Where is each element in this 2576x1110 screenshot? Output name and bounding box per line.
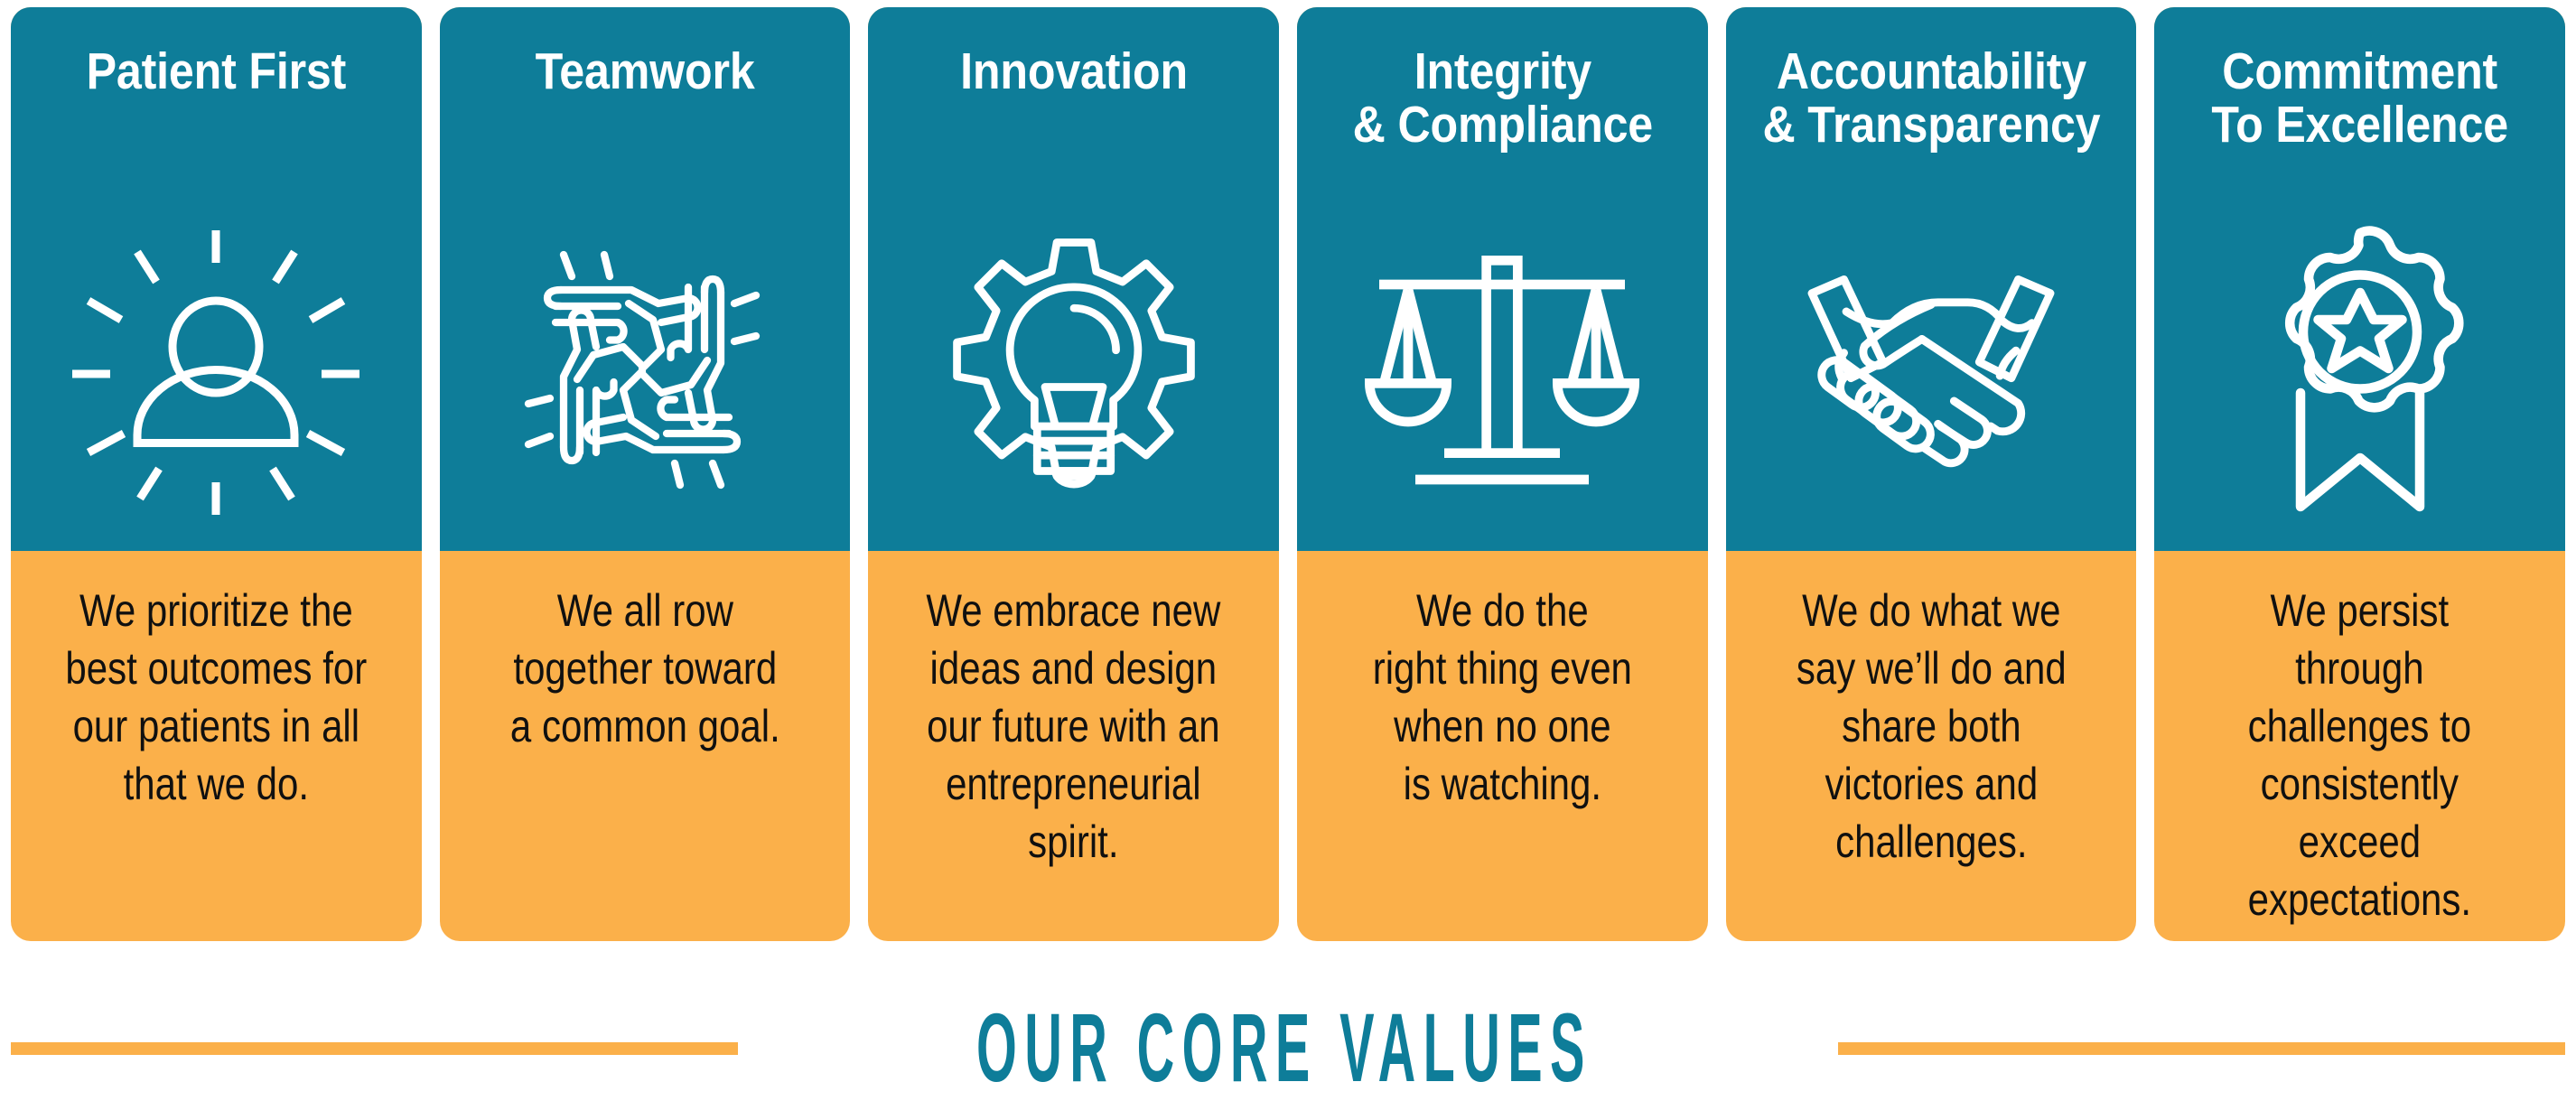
card-title: Patient First xyxy=(79,45,354,98)
card-header-innovation: Innovation xyxy=(868,7,1279,551)
card-body-accountability-transparency: We do what we say we’ll do and share bot… xyxy=(1726,551,2137,941)
card-body-commitment-excellence: We persist through challenges to consist… xyxy=(2154,551,2565,941)
card-description: We do the right thing even when no one i… xyxy=(1347,582,1658,813)
footer-title: Our Core Values xyxy=(976,1000,1600,1097)
patient-shine-icon xyxy=(11,222,422,520)
card-title: Teamwork xyxy=(527,45,763,98)
card-title: Commitment To Excellence xyxy=(2204,45,2516,151)
card-body-innovation: We embrace new ideas and design our futu… xyxy=(868,551,1279,941)
card-body-patient-first: We prioritize the best outcomes for our … xyxy=(11,551,422,941)
card-description: We embrace new ideas and design our futu… xyxy=(918,582,1229,871)
core-values-infographic: Patient First xyxy=(0,0,2576,1110)
lightbulb-gear-icon xyxy=(868,222,1279,520)
value-card-integrity-compliance: Integrity & Compliance xyxy=(1297,7,1708,941)
card-header-accountability-transparency: Accountability & Transparency xyxy=(1726,7,2137,551)
value-card-teamwork: Teamwork xyxy=(440,7,851,941)
card-header-teamwork: Teamwork xyxy=(440,7,851,551)
card-header-patient-first: Patient First xyxy=(11,7,422,551)
value-card-accountability-transparency: Accountability & Transparency xyxy=(1726,7,2137,941)
card-title: Integrity & Compliance xyxy=(1344,45,1660,151)
balance-scales-icon xyxy=(1297,222,1708,520)
card-header-integrity-compliance: Integrity & Compliance xyxy=(1297,7,1708,551)
card-description: We persist through challenges to consist… xyxy=(2204,582,2515,928)
footer-banner: Our Core Values xyxy=(11,999,2565,1098)
card-description: We do what we say we’ll do and share bot… xyxy=(1776,582,2087,871)
card-description: We prioritize the best outcomes for our … xyxy=(61,582,372,813)
card-title: Innovation xyxy=(952,45,1195,98)
handshake-icon xyxy=(1726,222,2137,520)
value-card-innovation: Innovation xyxy=(868,7,1279,941)
right-orange-rule xyxy=(1838,1042,2565,1055)
card-header-commitment-excellence: Commitment To Excellence xyxy=(2154,7,2565,551)
value-card-commitment-excellence: Commitment To Excellence We persis xyxy=(2154,7,2565,941)
left-orange-rule xyxy=(11,1042,738,1055)
card-body-teamwork: We all row together toward a common goal… xyxy=(440,551,851,941)
award-badge-icon xyxy=(2154,222,2565,520)
interlocking-hands-icon xyxy=(440,222,851,520)
card-title: Accountability & Transparency xyxy=(1754,45,2108,151)
values-card-grid: Patient First xyxy=(11,7,2565,941)
value-card-patient-first: Patient First xyxy=(11,7,422,941)
card-description: We all row together toward a common goal… xyxy=(490,582,801,755)
card-body-integrity-compliance: We do the right thing even when no one i… xyxy=(1297,551,1708,941)
